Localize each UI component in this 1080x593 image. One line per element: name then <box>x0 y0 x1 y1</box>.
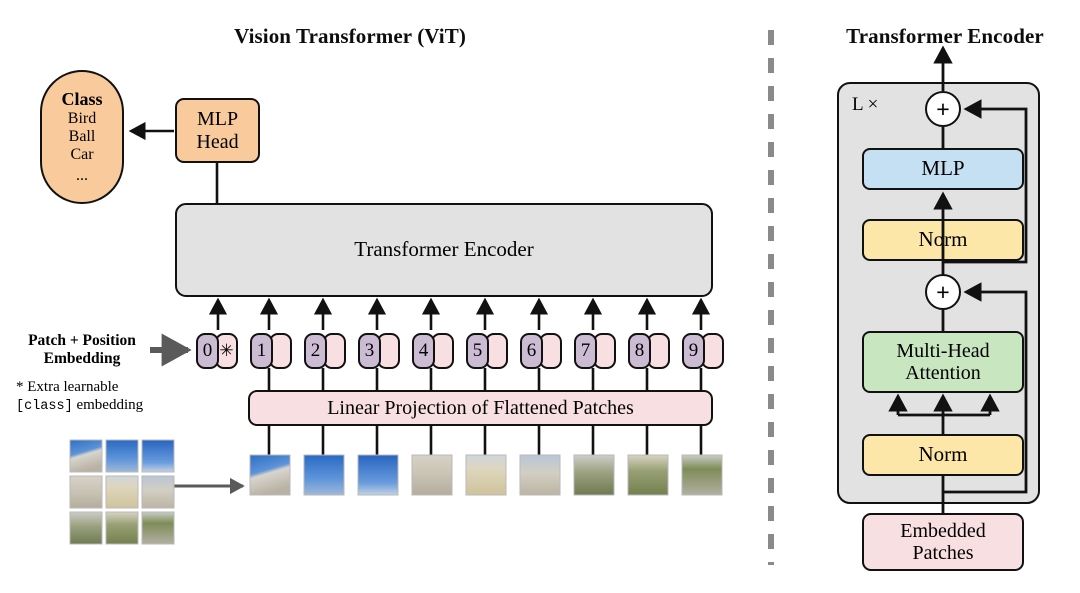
position-embedding-token: 5 <box>466 333 489 369</box>
flattened-patch-sequence <box>250 455 722 495</box>
add-symbol: + <box>936 98 949 121</box>
position-embedding-token: 6 <box>520 333 543 369</box>
position-embedding-token: 3 <box>358 333 381 369</box>
position-embedding-token: 8 <box>628 333 651 369</box>
position-embedding-token: 2 <box>304 333 327 369</box>
position-embedding-token: 7 <box>574 333 597 369</box>
position-embedding-token: 4 <box>412 333 435 369</box>
residual-add-bottom-icon: + <box>925 274 961 310</box>
position-embedding-token: 1 <box>250 333 273 369</box>
add-symbol: + <box>936 281 949 304</box>
position-embedding-token: 0 <box>196 333 219 369</box>
residual-add-top-icon: + <box>925 91 961 127</box>
position-embedding-token: 9 <box>682 333 705 369</box>
source-image-grid <box>70 440 174 544</box>
diagram-connectors <box>0 0 1080 593</box>
